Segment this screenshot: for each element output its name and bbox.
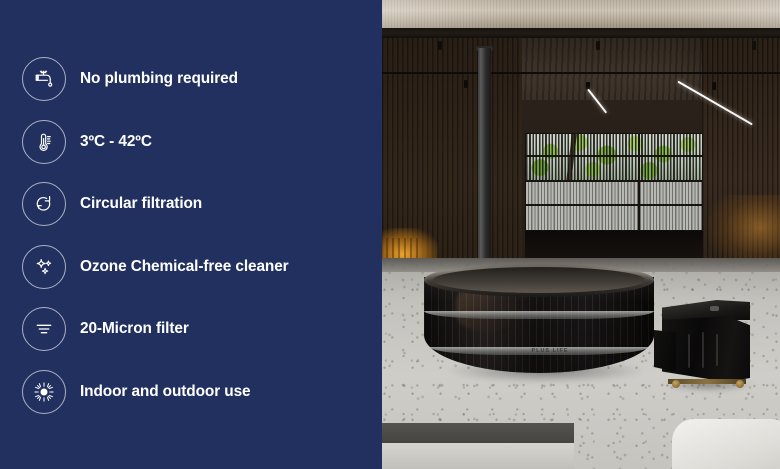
- sun-icon: [22, 370, 66, 414]
- promo-banner: No plumbing required 3ºC - 42ºC: [0, 0, 780, 469]
- heater-knob: [710, 306, 719, 311]
- feature-label: Ozone Chemical-free cleaner: [80, 258, 289, 276]
- track-drop: [438, 41, 442, 50]
- caster-wheel: [672, 380, 680, 388]
- feature-item-ozone-cleaner: Ozone Chemical-free cleaner: [22, 236, 362, 299]
- feature-item-indoor-outdoor: Indoor and outdoor use: [22, 361, 362, 424]
- feature-item-no-plumbing: No plumbing required: [22, 48, 362, 111]
- heater-vent-slot: [688, 334, 690, 368]
- faucet-icon: [22, 57, 66, 101]
- tub-brand-label: PLUS LIFE: [424, 347, 642, 355]
- track-spotlight: [712, 82, 716, 90]
- wall-right-glow: [708, 195, 780, 267]
- caster-wheel: [736, 380, 744, 388]
- thermometer-icon: [22, 120, 66, 164]
- track-drop: [596, 41, 600, 50]
- product-photo: PLUS LIFE: [382, 0, 780, 469]
- feature-item-circular-filtration: Circular filtration: [22, 173, 362, 236]
- heater-vent-slot: [702, 332, 704, 368]
- cold-plunge-tub: PLUS LIFE: [424, 263, 654, 386]
- feature-label: 20-Micron filter: [80, 320, 189, 338]
- feature-item-temperature-range: 3ºC - 42ºC: [22, 111, 362, 174]
- heater-unit: [654, 300, 750, 388]
- floor-step-dark: [382, 423, 574, 445]
- filter-icon: [22, 307, 66, 351]
- circular-arrow-icon: [22, 182, 66, 226]
- ceiling-soffit: [382, 0, 780, 28]
- feature-item-micron-filter: 20-Micron filter: [22, 298, 362, 361]
- opening-frame: [525, 133, 703, 231]
- ceiling-beam: [382, 28, 780, 38]
- floor-step-light: [382, 443, 574, 469]
- heater-vent-slot: [716, 334, 718, 366]
- track-drop: [752, 41, 756, 50]
- heater-top-surface: [662, 300, 750, 320]
- feature-label: 3ºC - 42ºC: [80, 133, 152, 151]
- chimney-flue-pipe: [478, 48, 491, 280]
- tub-rim-inner: [433, 267, 645, 293]
- feature-label: No plumbing required: [80, 70, 238, 88]
- feature-label: Circular filtration: [80, 195, 202, 213]
- sparkles-icon: [22, 245, 66, 289]
- feature-label: Indoor and outdoor use: [80, 383, 251, 401]
- heater-door: [654, 330, 676, 372]
- white-furniture-object: [672, 419, 780, 469]
- opening-sill: [525, 231, 703, 261]
- features-panel: No plumbing required 3ºC - 42ºC: [0, 0, 382, 469]
- track-spotlight: [464, 80, 468, 88]
- ceiling-track-rail: [382, 72, 780, 74]
- features-list: No plumbing required 3ºC - 42ºC: [22, 48, 362, 423]
